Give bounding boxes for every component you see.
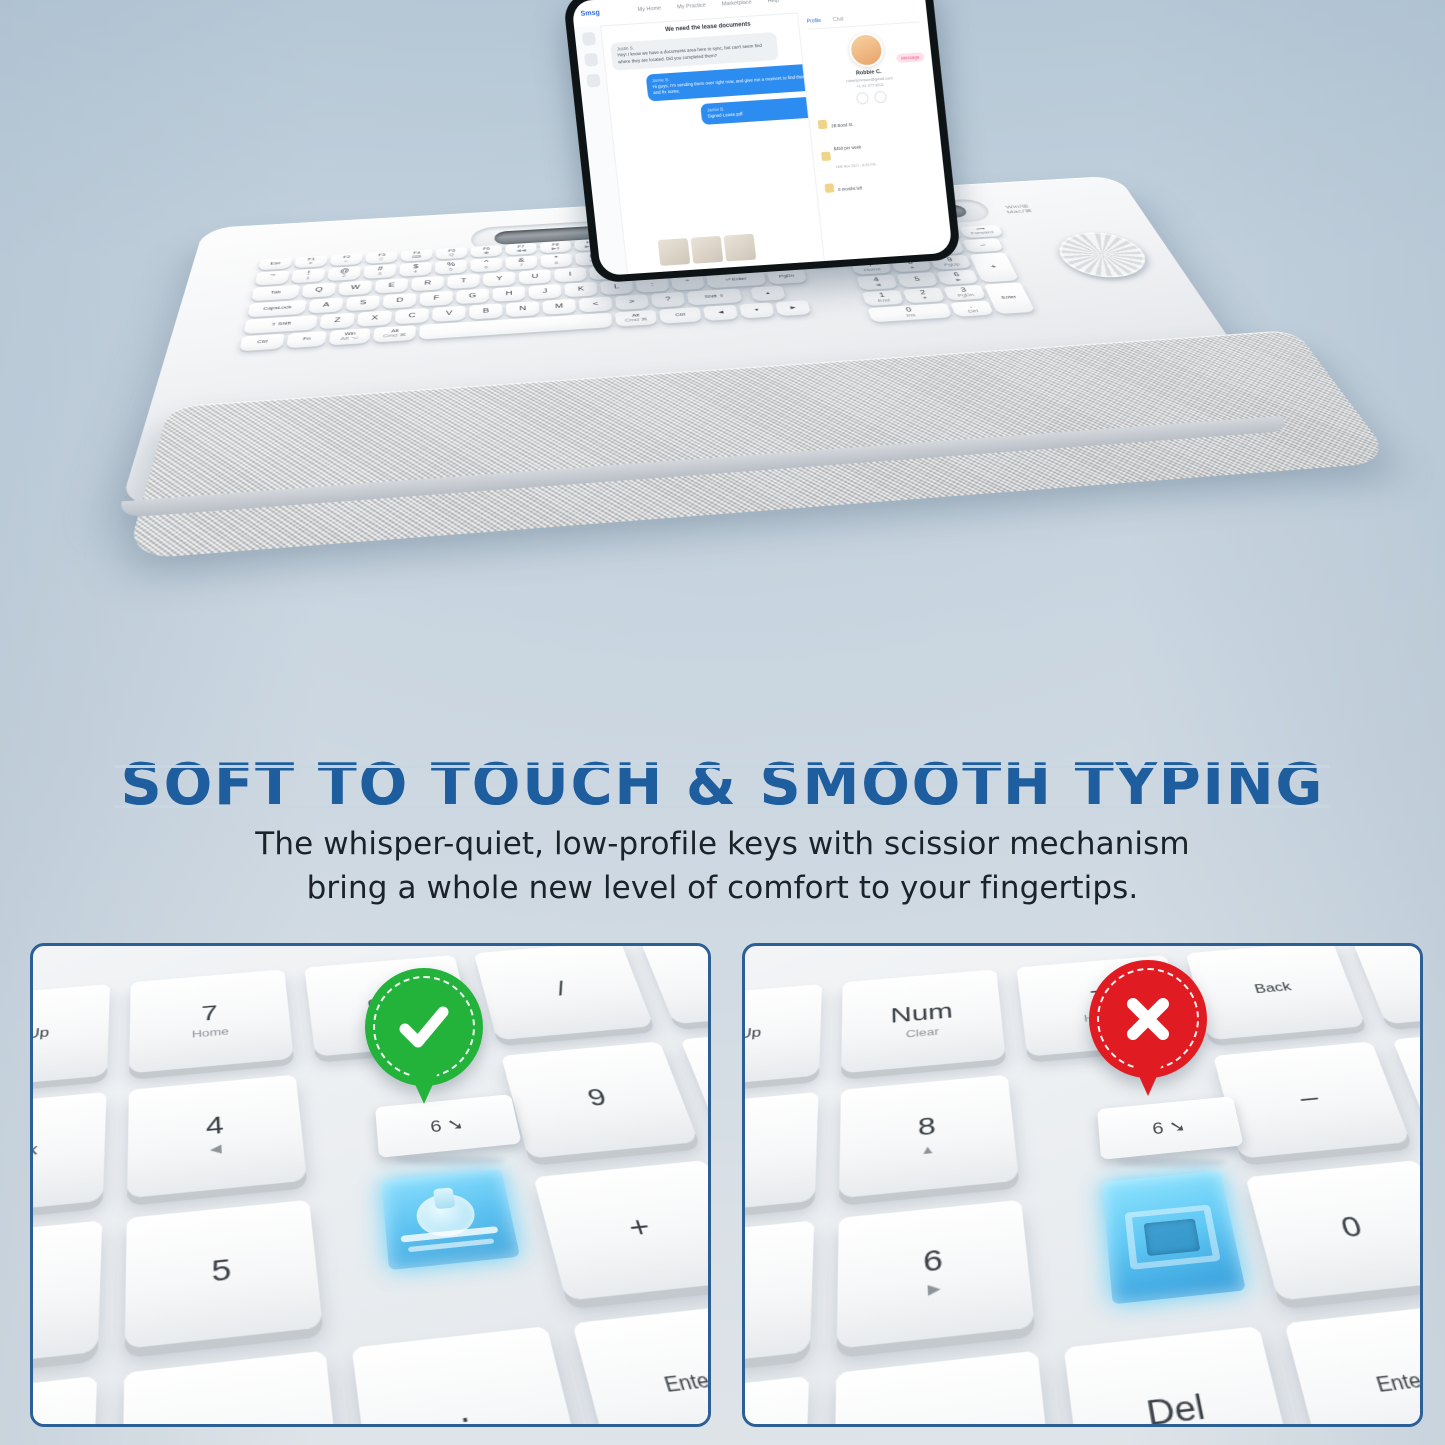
key-legend-primary: Z — [334, 318, 341, 324]
zoom-key-pgup[interactable]: PgUp — [30, 984, 110, 1091]
key-legend-primary: Ctrl — [257, 340, 268, 345]
key-legend-secondary: 8 — [555, 261, 559, 265]
key-legend-secondary: ◉ — [484, 251, 490, 255]
call-icon[interactable] — [856, 92, 869, 105]
key-legend-primary: ? — [665, 297, 671, 303]
key-legend-secondary: ▼ — [921, 296, 929, 300]
zoom-key-3[interactable]: 3PgDn — [30, 1376, 97, 1427]
key-legend-primary: " — [686, 280, 690, 286]
key-legend-primary: + — [990, 264, 998, 270]
subtitle: The whisper-quiet, low-profile keys with… — [0, 822, 1445, 910]
key-legend-secondary: Cmd ⌘ — [625, 317, 649, 323]
key-legend-secondary: Alt ⌥ — [340, 336, 359, 341]
key-ctrl[interactable]: Ctrl — [239, 334, 285, 352]
key-legend-primary: B — [483, 308, 490, 314]
key-legend-primary: G — [469, 293, 477, 299]
key-legend-secondary: ▶ — [956, 278, 963, 282]
key-h[interactable]: H — [493, 286, 526, 302]
thumbnail[interactable] — [691, 236, 724, 264]
key-s[interactable]: S — [345, 295, 380, 311]
mail-icon[interactable] — [874, 91, 887, 104]
detail-row: 2B Bond St. — [817, 108, 931, 133]
key-legend-primary: – — [979, 243, 986, 248]
contact-avatar — [847, 32, 885, 68]
zoom-key-5[interactable]: 5 — [742, 1220, 814, 1373]
zoom-key-sublegend: Home — [192, 1025, 230, 1040]
key-legend-primary: ⏎ Enter — [725, 277, 747, 282]
subtitle-line-1: The whisper-quiet, low-profile keys with… — [255, 826, 1189, 862]
zoom-key-legend: PgDn — [1420, 966, 1423, 982]
nav-item-3[interactable]: Help — [767, 0, 779, 4]
zoom-key-4[interactable]: 4◀ — [127, 1075, 307, 1199]
calendar-icon — [824, 183, 834, 193]
hero-keyboard-photo: Num Caps Win/⊞ Mac/⌘ EscF1☀F2☼F3▯F4⌨F5QF… — [0, 0, 1445, 740]
key-legend-primary: Ctrl — [675, 313, 685, 317]
close-icon — [1119, 990, 1177, 1048]
zoom-key-1[interactable]: 1End — [30, 1220, 102, 1373]
nav-item-1[interactable]: My Practice — [677, 3, 706, 11]
key-e[interactable]: E — [375, 278, 409, 293]
key-legend-primary: ▼ — [753, 308, 760, 312]
key-legend-primary: < — [593, 301, 599, 307]
key-legend-secondary: 5 — [449, 268, 453, 272]
contact-tabs[interactable]: Profile Chat — [807, 11, 920, 29]
detail-title: $450 per week — [834, 144, 862, 151]
scissor-switch — [381, 1169, 520, 1270]
zoom-key-ins[interactable]: Ins — [834, 1351, 1055, 1427]
key-legend-primary: Fn — [302, 337, 310, 341]
key-shift-[interactable]: Shift ⇧ — [687, 288, 743, 305]
key-legend-secondary: ☀ — [307, 261, 314, 265]
key-fn[interactable]: Fn — [286, 331, 327, 348]
key-f4[interactable]: F4⌨ — [400, 249, 432, 262]
key-legend-primary: C — [408, 313, 416, 319]
key-m[interactable]: M — [543, 299, 577, 315]
key-legend-primary: I — [569, 272, 572, 277]
key-2[interactable]: 2▼ — [903, 287, 946, 303]
zoom-key-legend: Num — [890, 999, 953, 1028]
key-1[interactable]: 1End — [862, 290, 905, 306]
key-legend-primary: Tab — [270, 291, 281, 295]
key-legend-primary: Esc — [270, 262, 281, 266]
key-legend-primary: CapsLock — [263, 306, 292, 311]
key-ctrl[interactable]: Ctrl — [659, 307, 702, 324]
zoom-key-pgdn[interactable]: PgDn — [1352, 943, 1423, 1024]
zoom-key-sublegend: Clear — [906, 1025, 940, 1039]
zoom-key-legend: 9 — [584, 1083, 610, 1112]
zoom-key-6[interactable]: 6▶ — [837, 1200, 1035, 1349]
message-button[interactable]: Message — [896, 52, 925, 63]
key--[interactable]: ▼ — [739, 302, 775, 318]
key-legend-primary: : — [651, 282, 654, 288]
tab-profile[interactable]: Profile — [807, 18, 822, 25]
zoom-key-num[interactable]: NumClear — [841, 969, 1006, 1073]
key--[interactable]: ◀ — [703, 305, 739, 321]
key-f5[interactable]: F5Q — [436, 247, 468, 259]
key--[interactable]: !1 — [291, 268, 326, 283]
zoom-key-legend: 4 — [205, 1111, 224, 1141]
key-legend-secondary: PgDn — [957, 293, 975, 298]
key-legend-secondary: 3 — [378, 272, 382, 276]
zoom-key--[interactable]: * — [640, 943, 711, 1024]
zoom-key-legend: PgUp — [742, 1026, 762, 1044]
key-w[interactable]: W — [338, 280, 372, 295]
key-legend-primary: N — [519, 306, 526, 312]
wrist-rest — [126, 330, 1395, 560]
key-legend-primary: 5 — [914, 277, 921, 283]
key-legend-primary: H — [505, 291, 512, 297]
key--[interactable]: ? — [651, 292, 686, 308]
panel-membrane-switch: PgUpNumClear7HomeBackPgDn4◀8▲–1End56▶02▼… — [742, 943, 1423, 1427]
key-n[interactable]: N — [506, 301, 539, 317]
zoom-key-legend: / — [554, 977, 569, 1001]
key-legend-primary: Q — [315, 287, 323, 293]
sidebar-icon-0[interactable] — [581, 32, 595, 46]
key-4[interactable]: 4◀ — [856, 275, 898, 291]
thumbnail[interactable] — [724, 234, 757, 262]
key--[interactable]: > — [615, 294, 649, 310]
zoom-key-enter[interactable]: Enter — [572, 1302, 711, 1427]
key-f8[interactable]: F8▶‖ — [540, 241, 571, 253]
key-legend-secondary: 2 — [342, 274, 346, 278]
key-legend-primary: Enter — [1001, 296, 1017, 301]
key-k[interactable]: K — [564, 282, 597, 298]
key-legend-secondary: 4 — [413, 270, 417, 274]
key-legend-primary: U — [531, 274, 538, 280]
key-tab[interactable]: Tab — [251, 285, 300, 301]
zoom-key-legend: . — [455, 1389, 473, 1427]
zoom-key-legend: Enter — [662, 1370, 711, 1398]
zoom-key-legend: 0 — [1337, 1210, 1366, 1244]
key--[interactable]: &7 — [506, 255, 538, 270]
page-title: SOFT TO TOUCH & SMOOTH TYPING — [0, 752, 1445, 818]
check-icon — [393, 996, 455, 1058]
sidebar-icon-1[interactable] — [584, 53, 598, 67]
key-legend-secondary: End — [877, 298, 890, 303]
contact-detail-rows: 2B Bond St. $450 per week 26th Nov 2021 … — [817, 108, 938, 197]
key--[interactable]: ⟶Forward — [960, 225, 1004, 238]
key-legend-primary: D — [396, 298, 403, 304]
nav-item-2[interactable]: Marketplace — [722, 0, 753, 7]
key-legend-secondary: Home — [863, 267, 881, 272]
key-legend-secondary: ⌨ — [412, 255, 422, 259]
key-v[interactable]: V — [432, 306, 466, 322]
key-q[interactable]: Q — [301, 283, 336, 299]
key--[interactable]: < — [579, 297, 613, 313]
key-a[interactable]: A — [308, 298, 343, 314]
tab-chat[interactable]: Chat — [833, 16, 844, 23]
key-5[interactable]: 5 — [897, 272, 939, 288]
key-legend-secondary: ▯ — [379, 257, 383, 261]
key-legend-secondary: 6 — [484, 266, 488, 270]
key-legend-secondary: Cmd ⌘ — [382, 333, 406, 339]
key-f[interactable]: F — [419, 291, 452, 307]
thumbnail[interactable] — [658, 238, 691, 266]
key-x[interactable]: X — [357, 310, 392, 326]
app-logo: Smsg — [580, 9, 600, 17]
zoom-key-5[interactable]: 5 — [125, 1200, 323, 1349]
phone-topbar-right: Invite Justin S. — [854, 0, 917, 1]
zoom-key-del[interactable]: Del — [1064, 1326, 1297, 1427]
key-legend-primary: V — [446, 311, 453, 317]
message-bubble-me: Jamie B. Hi guys, I'm sending them over … — [645, 63, 814, 101]
key-legend-secondary: ▲ — [908, 265, 916, 269]
zoom-key--[interactable]: + — [533, 1160, 711, 1301]
detail-row: $450 per week 26th Nov 2021 - 8:30 PM — [820, 131, 936, 174]
keycap-shadow — [1117, 1158, 1227, 1167]
contact-panel: Profile Chat Message Robbie C. robertjoh… — [797, 4, 953, 261]
key-u[interactable]: U — [519, 269, 551, 284]
key--[interactable]: ▲ — [750, 286, 785, 302]
key-legend-primary: Shift ⇧ — [704, 294, 724, 299]
key-legend-secondary: ` — [270, 279, 273, 283]
key-legend-primary: ▶ — [790, 306, 796, 310]
detail-row: 6 months left — [824, 172, 938, 197]
key-esc[interactable]: Esc — [258, 258, 292, 271]
key-alt[interactable]: AltCmd ⌘ — [615, 310, 658, 327]
detail-sub: 26th Nov 2021 - 8:30 PM — [836, 163, 876, 170]
message-bubble-attachment[interactable]: Jamie B. Signed Lease.pdf — [700, 96, 817, 124]
key-legend-secondary: ☼ — [343, 259, 350, 263]
headline-text: SOFT TO TOUCH & SMOOTH TYPING — [121, 752, 1325, 818]
membrane-switch — [1102, 1171, 1246, 1305]
docked-phone: Smsg My Home My Practice Marketplace Hel… — [563, 0, 962, 283]
zoom-key-back[interactable]: Back — [1186, 943, 1366, 1040]
zoom-key-legend: PgUp — [30, 1026, 50, 1044]
key--[interactable]: $4 — [399, 262, 432, 277]
contact-phone: +1 01 277 8211 — [856, 82, 884, 89]
key-legend-primary: Y — [496, 276, 502, 282]
key-legend-secondary: Ins — [906, 313, 916, 318]
attachment-thumbnails[interactable] — [658, 234, 757, 266]
key-legend-secondary: Del — [967, 309, 979, 314]
key--[interactable]: #3 — [363, 264, 396, 279]
key--[interactable]: ~` — [255, 270, 290, 285]
zoom-key-legend: 8 — [917, 1111, 936, 1141]
key-y[interactable]: Y — [483, 272, 515, 287]
zoom-key-legend: Ins — [202, 1414, 256, 1427]
product-marketing-image: Num Caps Win/⊞ Mac/⌘ EscF1☀F2☼F3▯F4⌨F5QF… — [0, 0, 1445, 1445]
key-j[interactable]: J — [529, 284, 562, 300]
money-icon — [821, 151, 831, 161]
key-legend-secondary: 7 — [520, 263, 524, 267]
key-f2[interactable]: F2☼ — [330, 253, 363, 266]
key-legend-primary: T — [461, 278, 467, 284]
key--[interactable]: ^6 — [470, 258, 502, 273]
key--[interactable]: .Del — [950, 300, 994, 316]
zoom-key-legend: Back — [30, 1142, 38, 1162]
zoom-key-legend: Ins — [914, 1414, 968, 1427]
zoom-key--[interactable]: / — [474, 943, 654, 1040]
contact-actions[interactable] — [856, 91, 887, 105]
key-legend-secondary: Forward — [970, 231, 994, 236]
contact-profile: Robbie C. robertjohnson@gmail.com +1 01 … — [809, 29, 929, 107]
key--[interactable]: %5 — [435, 260, 467, 275]
zoom-key-legend: Back — [1253, 981, 1293, 997]
zoom-key-legend: – — [1296, 1083, 1322, 1112]
key--[interactable]: – — [962, 238, 1003, 253]
key-alt[interactable]: AltCmd ⌘ — [373, 325, 416, 342]
panel-scissor-switch: PgUp7HomeClear/*Back4◀9–1End5+2▼3PgDnIns… — [30, 943, 711, 1427]
message-bubble-them: Justin S. Hey! I know we have a document… — [610, 32, 779, 70]
key-capslock[interactable]: CapsLock — [247, 300, 307, 318]
zoom-key-legend: 6 — [922, 1243, 943, 1279]
check-mark-pin — [365, 968, 483, 1118]
sidebar-icon-2[interactable] — [586, 74, 600, 88]
key-legend-secondary: PgUp — [943, 263, 960, 268]
key-b[interactable]: B — [469, 303, 502, 319]
zoom-key-4[interactable]: 4◀ — [742, 1092, 818, 1219]
key-f7[interactable]: F7◀◀ — [505, 243, 536, 255]
key-legend-primary: X — [371, 315, 378, 321]
cross-mark-pin — [1089, 960, 1207, 1110]
key-win[interactable]: WinAlt ⌥ — [329, 328, 371, 345]
key-t[interactable]: T — [447, 274, 479, 289]
key-legend-primary: PgDn — [779, 274, 795, 278]
key-0[interactable]: 0Ins — [867, 303, 952, 322]
zoom-key-back[interactable]: Back — [30, 1092, 106, 1219]
key-c[interactable]: C — [395, 308, 429, 324]
switch-stem — [433, 1187, 455, 1209]
key-legend-primary: R — [424, 281, 431, 287]
phone-nav[interactable]: My Home My Practice Marketplace Help — [637, 0, 779, 13]
key-i[interactable]: I — [554, 267, 587, 282]
zoom-key--[interactable]: . — [352, 1326, 585, 1427]
key-z[interactable]: Z — [319, 313, 355, 329]
keycap-shadow — [395, 1156, 505, 1165]
key-g[interactable]: G — [456, 288, 489, 304]
membrane-well — [1144, 1219, 1201, 1257]
key-legend-primary: K — [578, 287, 585, 293]
zoom-key-3[interactable]: 3PgDn — [742, 1376, 809, 1427]
key-legend-primary: A — [322, 302, 329, 308]
zoom-key-legend: 7 — [201, 1000, 219, 1025]
detail-title: 6 months left — [838, 185, 862, 192]
key--[interactable]: *8 — [540, 253, 572, 268]
zoom-key-sublegend: ▲ — [920, 1142, 936, 1157]
key-r[interactable]: R — [411, 276, 444, 291]
key-6[interactable]: 6▶ — [937, 270, 979, 285]
zoom-key-ins[interactable]: Ins — [122, 1351, 343, 1427]
key-legend-primary: ▲ — [764, 292, 771, 296]
key-d[interactable]: D — [382, 293, 416, 309]
key-f3[interactable]: F3▯ — [365, 251, 398, 264]
key--[interactable]: ▶ — [775, 300, 811, 316]
key-legend-primary: F — [433, 296, 439, 302]
key--[interactable]: @2 — [327, 266, 361, 281]
home-icon — [818, 119, 828, 129]
key-legend-primary: S — [359, 300, 366, 306]
membrane-switch-assembly: 6 ➘ — [1077, 1096, 1277, 1326]
key-legend-primary: > — [629, 299, 635, 305]
zoom-key-legend: 5 — [211, 1253, 232, 1289]
zoom-key-legend: Enter — [1374, 1370, 1423, 1398]
key-f6[interactable]: F6◉ — [471, 245, 502, 257]
key-legend-primary: W — [350, 285, 360, 291]
key-legend-primary: M — [555, 304, 563, 310]
nav-item-0[interactable]: My Home — [637, 6, 661, 14]
zoom-key-sublegend: ◀ — [210, 1141, 222, 1157]
zoom-key-8[interactable]: 8▲ — [839, 1075, 1019, 1199]
zoom-key-legend: + — [624, 1210, 654, 1244]
key-legend-primary: ⇧ Shift — [270, 322, 291, 327]
phone-screen: Smsg My Home My Practice Marketplace Hel… — [571, 0, 952, 276]
key-legend-primary: L — [614, 284, 620, 290]
key-legend-primary: J — [542, 289, 547, 295]
key-l[interactable]: L — [600, 280, 634, 295]
key-legend-secondary: Q — [449, 253, 454, 257]
zoom-key-pgup[interactable]: PgUp — [742, 984, 822, 1091]
key-legend-secondary: 1 — [306, 276, 310, 280]
scissor-switch-assembly: 6 ➘ — [355, 1094, 555, 1324]
key-legend-primary: E — [388, 283, 395, 289]
key-legend-primary: ◀ — [718, 311, 724, 315]
detail-title: 2B Bond St. — [831, 122, 854, 128]
zoom-key-sublegend: ▶ — [927, 1280, 941, 1299]
key-legend-secondary: ◀ — [875, 283, 881, 287]
zoom-key-enter[interactable]: Enter — [1284, 1302, 1423, 1427]
zoom-key-legend: Del — [1144, 1387, 1209, 1427]
key-f1[interactable]: F1☀ — [294, 255, 328, 268]
zoom-key-7[interactable]: 7Home — [129, 969, 294, 1073]
key-3[interactable]: 3PgDn — [943, 285, 986, 301]
subtitle-line-2: bring a whole new level of comfort to yo… — [307, 870, 1139, 906]
key-legend-secondary: ◀◀ — [516, 249, 526, 253]
key-legend-secondary: ▶‖ — [552, 247, 560, 251]
